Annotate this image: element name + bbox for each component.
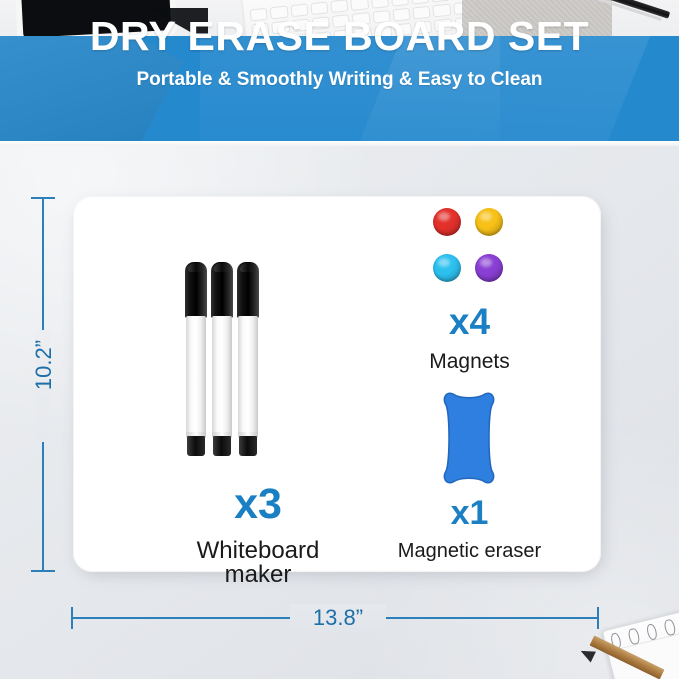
width-dimension-label: 13.8”	[280, 605, 396, 631]
magnets-quantity: x4	[397, 303, 542, 340]
marker-3	[237, 262, 259, 458]
marker-tip	[213, 436, 231, 456]
eraser-label: Magnetic eraser	[397, 541, 542, 561]
magnets-label: Magnets	[397, 351, 542, 372]
height-dimension-cap-top	[31, 197, 55, 199]
height-dimension-cap-bottom	[31, 570, 55, 572]
width-dimension-cap-right	[597, 607, 599, 629]
magnets-callout: x4 Magnets	[397, 303, 542, 372]
width-dimension-cap-left	[71, 607, 73, 629]
eraser-quantity: x1	[397, 496, 542, 530]
magnet-group	[433, 208, 503, 284]
marker-1	[185, 262, 207, 458]
markers-label: Whiteboard maker	[160, 539, 356, 587]
marker-group	[185, 262, 263, 458]
page-subtitle: Portable & Smoothly Writing & Easy to Cl…	[0, 70, 679, 89]
marker-cap-top	[240, 263, 256, 272]
marker-body	[212, 316, 232, 438]
marker-tip	[239, 436, 257, 456]
marker-cap	[185, 262, 207, 318]
markers-callout: x3 Whiteboard maker	[160, 483, 356, 587]
marker-body	[186, 316, 206, 438]
marker-tip	[187, 436, 205, 456]
height-dimension-label: 10.2”	[31, 315, 57, 415]
marker-2	[211, 262, 233, 458]
eraser-callout: x1 Magnetic eraser	[397, 496, 542, 561]
magnet-purple	[475, 254, 503, 282]
eraser-shape-icon	[443, 392, 495, 484]
marker-cap	[237, 262, 259, 318]
marker-cap-top	[214, 263, 230, 272]
magnet-red	[433, 208, 461, 236]
magnet-yellow	[475, 208, 503, 236]
magnet-cyan	[433, 254, 461, 282]
marker-cap-top	[188, 263, 204, 272]
markers-quantity: x3	[160, 483, 356, 526]
eraser-illustration	[443, 392, 495, 484]
product-infographic: DRY ERASE BOARD SET Portable & Smoothly …	[0, 0, 679, 679]
page-title: DRY ERASE BOARD SET	[0, 16, 679, 57]
marker-body	[238, 316, 258, 438]
marker-cap	[211, 262, 233, 318]
